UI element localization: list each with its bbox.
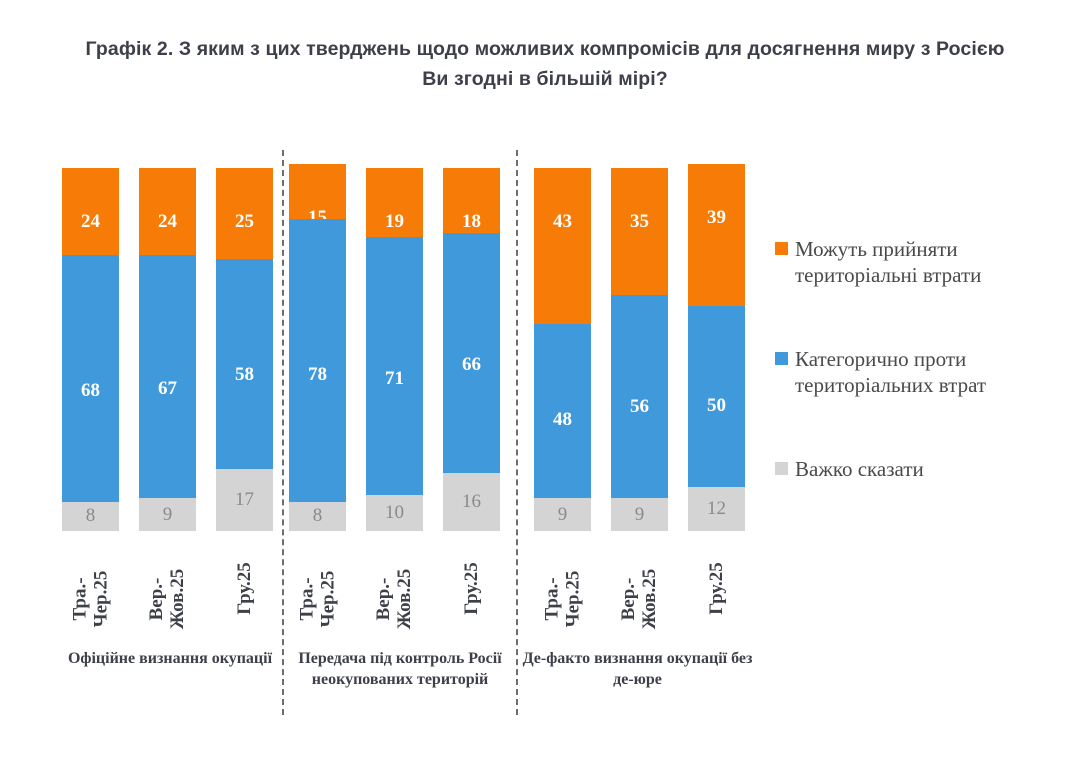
x-axis-period-label: Вер.-Жов.25 — [366, 540, 423, 630]
bar-segment-value: 8 — [289, 506, 346, 525]
legend-label: Можуть прийняти територіальні втрати — [795, 236, 1045, 288]
bar-segment-value: 19 — [366, 212, 423, 231]
x-axis-period-label: Вер.-Жов.25 — [139, 540, 196, 630]
bar-segment-value: 66 — [443, 355, 500, 374]
group-caption: Офіційне визнання окупації — [50, 648, 290, 669]
stacked-bar[interactable]: 43489 — [534, 168, 591, 531]
bar-segment-value: 35 — [611, 212, 668, 231]
bar-segment-value: 24 — [139, 212, 196, 231]
stacked-bar[interactable]: 24679 — [139, 168, 196, 531]
bar-segment-value: 16 — [443, 492, 500, 511]
legend-item-categorically-against[interactable]: Категорично проти територіальних втрат — [775, 346, 1045, 398]
bar-segment-value: 12 — [688, 499, 745, 518]
group-caption: Де-факто визнання окупації без де-юре — [515, 648, 760, 690]
bar-segment-value: 9 — [139, 505, 196, 524]
bar-segment-orange[interactable]: 19 — [366, 168, 423, 237]
bar-segment-orange[interactable]: 15 — [289, 164, 346, 218]
bar-segment-blue[interactable]: 48 — [534, 324, 591, 498]
bar-segment-orange[interactable]: 18 — [443, 168, 500, 233]
bar-segment-orange[interactable]: 43 — [534, 168, 591, 324]
bar-segment-blue[interactable]: 58 — [216, 259, 273, 470]
bar-segment-orange[interactable]: 25 — [216, 168, 273, 259]
bar-segment-blue[interactable]: 78 — [289, 219, 346, 502]
bar-segment-orange[interactable]: 24 — [139, 168, 196, 255]
x-axis-period-label: Тра.-Чер.25 — [534, 540, 591, 630]
bar-segment-value: 58 — [216, 365, 273, 384]
bar-segment-grey[interactable]: 8 — [289, 502, 346, 531]
bar-segment-blue[interactable]: 56 — [611, 295, 668, 498]
bar-segment-blue[interactable]: 68 — [62, 255, 119, 502]
x-axis-period-label: Гру.25 — [688, 540, 745, 630]
x-axis-period-label: Гру.25 — [216, 540, 273, 630]
bar-segment-blue[interactable]: 66 — [443, 233, 500, 473]
bar-segment-value: 48 — [534, 410, 591, 429]
group-caption: Передача під контроль Росії неокупованих… — [280, 648, 520, 690]
bar-segment-grey[interactable]: 16 — [443, 473, 500, 531]
group-separator — [516, 150, 518, 715]
bar-segment-value: 56 — [611, 397, 668, 416]
bar-segment-grey[interactable]: 9 — [534, 498, 591, 531]
bar-segment-value: 39 — [688, 208, 745, 227]
bar-segment-blue[interactable]: 67 — [139, 255, 196, 498]
legend-swatch-icon — [775, 242, 788, 255]
bar-segment-value: 43 — [534, 212, 591, 231]
bar-segment-value: 67 — [139, 379, 196, 398]
bar-segment-value: 10 — [366, 503, 423, 522]
stacked-bar[interactable]: 35569 — [611, 168, 668, 531]
x-axis-period-label: Вер.-Жов.25 — [611, 540, 668, 630]
bar-segment-grey[interactable]: 9 — [139, 498, 196, 531]
x-axis-period-label: Тра.-Чер.25 — [289, 540, 346, 630]
legend-label: Важко сказати — [795, 456, 924, 482]
bar-segment-blue[interactable]: 50 — [688, 306, 745, 488]
bar-segment-value: 78 — [289, 365, 346, 384]
bar-segment-orange[interactable]: 39 — [688, 164, 745, 306]
bar-segment-value: 18 — [443, 212, 500, 231]
bar-segment-grey[interactable]: 10 — [366, 495, 423, 531]
x-axis-period-label: Гру.25 — [443, 540, 500, 630]
stacked-bar[interactable]: 395012 — [688, 164, 745, 531]
legend-item-accept-territorial-losses[interactable]: Можуть прийняти територіальні втрати — [775, 236, 1045, 288]
stacked-bar[interactable]: 255817 — [216, 168, 273, 531]
bar-segment-orange[interactable]: 24 — [62, 168, 119, 255]
bar-segment-grey[interactable]: 17 — [216, 469, 273, 531]
bar-segment-value: 25 — [216, 212, 273, 231]
bar-segment-orange[interactable]: 35 — [611, 168, 668, 295]
bar-segment-value: 68 — [62, 381, 119, 400]
x-axis-period-label: Тра.-Чер.25 — [62, 540, 119, 630]
chart-legend: Можуть прийняти територіальні втратиКате… — [775, 236, 1045, 540]
stacked-bar[interactable]: 24688 — [62, 168, 119, 531]
bar-segment-grey[interactable]: 12 — [688, 487, 745, 531]
legend-swatch-icon — [775, 352, 788, 365]
bar-segment-value: 71 — [366, 369, 423, 388]
bar-segment-value: 50 — [688, 396, 745, 415]
bar-segment-value: 9 — [611, 505, 668, 524]
bar-segment-value: 24 — [62, 212, 119, 231]
bar-segment-value: 17 — [216, 490, 273, 509]
stacked-bar[interactable]: 197110 — [366, 168, 423, 531]
stacked-bar[interactable]: 15788 — [289, 164, 346, 531]
bar-segment-grey[interactable]: 9 — [611, 498, 668, 531]
legend-label: Категорично проти територіальних втрат — [795, 346, 1045, 398]
group-separator — [282, 150, 284, 715]
bar-segment-value: 8 — [62, 506, 119, 525]
legend-swatch-icon — [775, 462, 788, 475]
bar-segment-blue[interactable]: 71 — [366, 237, 423, 495]
bar-segment-value: 9 — [534, 505, 591, 524]
stacked-bar[interactable]: 186616 — [443, 168, 500, 531]
bar-segment-grey[interactable]: 8 — [62, 502, 119, 531]
legend-item-hard-to-say[interactable]: Важко сказати — [775, 456, 1045, 482]
